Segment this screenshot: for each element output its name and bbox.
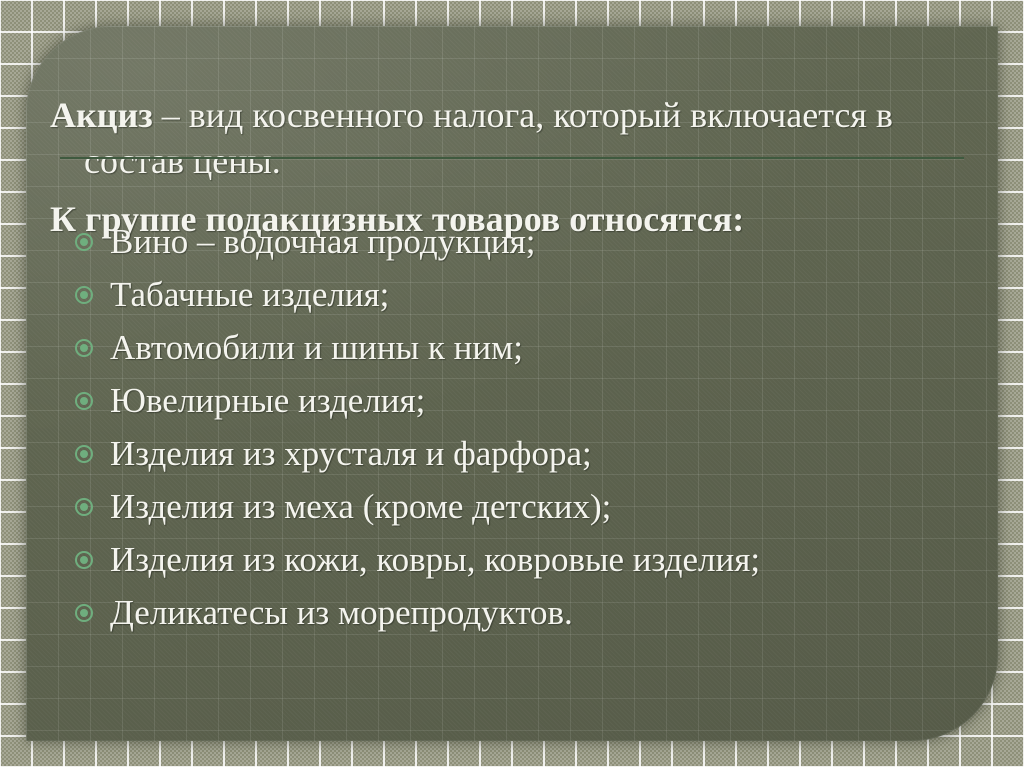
- list-item: Ювелирные изделия;: [50, 374, 970, 427]
- list-item-label: Табачные изделия;: [110, 275, 389, 314]
- list-item-label: Ювелирные изделия;: [110, 381, 425, 420]
- bullet-target-icon: [75, 233, 93, 251]
- excisable-goods-list: Вино – водочная продукция; Табачные изде…: [50, 215, 970, 639]
- bullet-target-icon: [75, 604, 93, 622]
- list-item: Вино – водочная продукция;: [50, 215, 970, 268]
- list-item-label: Вино – водочная продукция;: [110, 222, 536, 261]
- list-item-label: Деликатесы из морепродуктов.: [110, 593, 573, 632]
- content-panel: Акциз – вид косвенного налога, который в…: [26, 26, 998, 741]
- list-item: Изделия из меха (кроме детских);: [50, 480, 970, 533]
- section-divider: [60, 157, 964, 159]
- list-item: Деликатесы из морепродуктов.: [50, 586, 970, 639]
- list-item: Изделия из хрусталя и фарфора;: [50, 427, 970, 480]
- slide-canvas: Акциз – вид косвенного налога, который в…: [0, 0, 1024, 767]
- list-item-label: Изделия из меха (кроме детских);: [110, 487, 611, 526]
- bullet-target-icon: [75, 498, 93, 516]
- bullet-target-icon: [75, 286, 93, 304]
- bullet-target-icon: [75, 445, 93, 463]
- lead-definition: – вид косвенного налога, который включае…: [84, 95, 893, 181]
- list-item: Автомобили и шины к ним;: [50, 321, 970, 374]
- list-item: Табачные изделия;: [50, 268, 970, 321]
- list-item: Изделия из кожи, ковры, ковровые изделия…: [50, 533, 970, 586]
- list-item-label: Изделия из хрусталя и фарфора;: [110, 434, 592, 473]
- bullet-target-icon: [75, 339, 93, 357]
- lead-paragraph: Акциз – вид косвенного налога, который в…: [50, 92, 998, 184]
- lead-term: Акциз: [50, 95, 153, 135]
- list-item-label: Автомобили и шины к ним;: [110, 328, 523, 367]
- list-item-label: Изделия из кожи, ковры, ковровые изделия…: [110, 540, 760, 579]
- slide-content: Акциз – вид косвенного налога, который в…: [26, 26, 998, 741]
- bullet-target-icon: [75, 392, 93, 410]
- bullet-target-icon: [75, 551, 93, 569]
